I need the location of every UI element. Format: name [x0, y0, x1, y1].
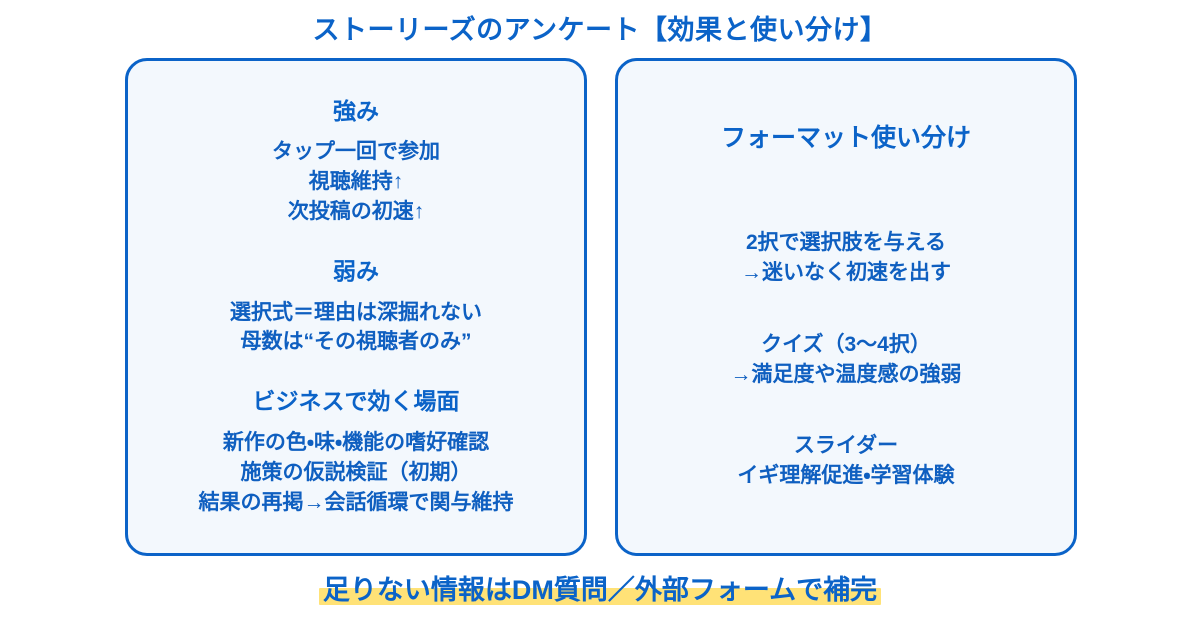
- footer-note-label: 足りない情報はDM質問／外部フォームで補完: [323, 575, 877, 605]
- list-item: イギ理解促進・学習体験: [636, 461, 1056, 491]
- panels-container: 強み タップ一回で参加 視聴維持↑ 次投稿の初速↑ 弱み 選択式＝理由は深掘れな…: [125, 58, 1077, 556]
- list-item: スライダー: [636, 431, 1056, 461]
- list-item: 施策の仮説検証（初期）: [146, 458, 566, 488]
- list-item: →満足度や温度感の強弱: [636, 360, 1056, 390]
- list-item: タップ一回で参加: [146, 137, 566, 167]
- block-heading-business-use-cases: ビジネスで効く場面: [146, 387, 566, 416]
- block-heading-weaknesses: 弱み: [146, 257, 566, 286]
- spacer: [636, 154, 1056, 228]
- list-item: 母数は“その視聴者のみ”: [146, 327, 566, 357]
- block-strengths: 強み タップ一回で参加 視聴維持↑ 次投稿の初速↑: [146, 97, 566, 227]
- list-item: 次投稿の初速↑: [146, 197, 566, 227]
- block-slider: スライダー イギ理解促進・学習体験: [636, 431, 1056, 491]
- left-panel-content: 強み タップ一回で参加 視聴維持↑ 次投稿の初速↑ 弱み 選択式＝理由は深掘れな…: [128, 61, 584, 553]
- panel-title-format-usage: フォーマット使い分け: [636, 123, 1056, 154]
- list-item: 視聴維持↑: [146, 167, 566, 197]
- page-title: ストーリーズのアンケート【効果と使い分け】: [0, 14, 1200, 46]
- block-two-choice: 2択で選択肢を与える →迷いなく初速を出す: [636, 228, 1056, 288]
- panel-format-usage: フォーマット使い分け 2択で選択肢を与える →迷いなく初速を出す クイズ（3〜4…: [615, 58, 1077, 556]
- list-item: 2択で選択肢を与える: [636, 228, 1056, 258]
- block-lines-slider: スライダー イギ理解促進・学習体験: [636, 431, 1056, 491]
- block-lines-two-choice: 2択で選択肢を与える →迷いなく初速を出す: [636, 228, 1056, 288]
- block-lines-business-use-cases: 新作の色・味・機能の嗜好確認 施策の仮説検証（初期） 結果の再掲→会話循環で関与…: [146, 428, 566, 517]
- list-item: 選択式＝理由は深掘れない: [146, 298, 566, 328]
- list-item: 結果の再掲→会話循環で関与維持: [146, 488, 566, 518]
- footer-highlighted-note: 足りない情報はDM質問／外部フォームで補完: [319, 574, 881, 606]
- block-business-use-cases: ビジネスで効く場面 新作の色・味・機能の嗜好確認 施策の仮説検証（初期） 結果の…: [146, 387, 566, 517]
- block-heading-strengths: 強み: [146, 97, 566, 126]
- footer: 足りない情報はDM質問／外部フォームで補完: [0, 574, 1200, 606]
- right-panel-content: フォーマット使い分け 2択で選択肢を与える →迷いなく初速を出す クイズ（3〜4…: [618, 61, 1074, 553]
- block-lines-strengths: タップ一回で参加 視聴維持↑ 次投稿の初速↑: [146, 137, 566, 226]
- block-lines-quiz: クイズ（3〜4択） →満足度や温度感の強弱: [636, 330, 1056, 390]
- block-quiz: クイズ（3〜4択） →満足度や温度感の強弱: [636, 330, 1056, 390]
- slide-root: ストーリーズのアンケート【効果と使い分け】 強み タップ一回で参加 視聴維持↑ …: [0, 0, 1200, 630]
- block-weaknesses: 弱み 選択式＝理由は深掘れない 母数は“その視聴者のみ”: [146, 257, 566, 357]
- block-lines-weaknesses: 選択式＝理由は深掘れない 母数は“その視聴者のみ”: [146, 298, 566, 358]
- panel-strengths-weaknesses: 強み タップ一回で参加 視聴維持↑ 次投稿の初速↑ 弱み 選択式＝理由は深掘れな…: [125, 58, 587, 556]
- list-item: クイズ（3〜4択）: [636, 330, 1056, 360]
- list-item: 新作の色・味・機能の嗜好確認: [146, 428, 566, 458]
- list-item: →迷いなく初速を出す: [636, 258, 1056, 288]
